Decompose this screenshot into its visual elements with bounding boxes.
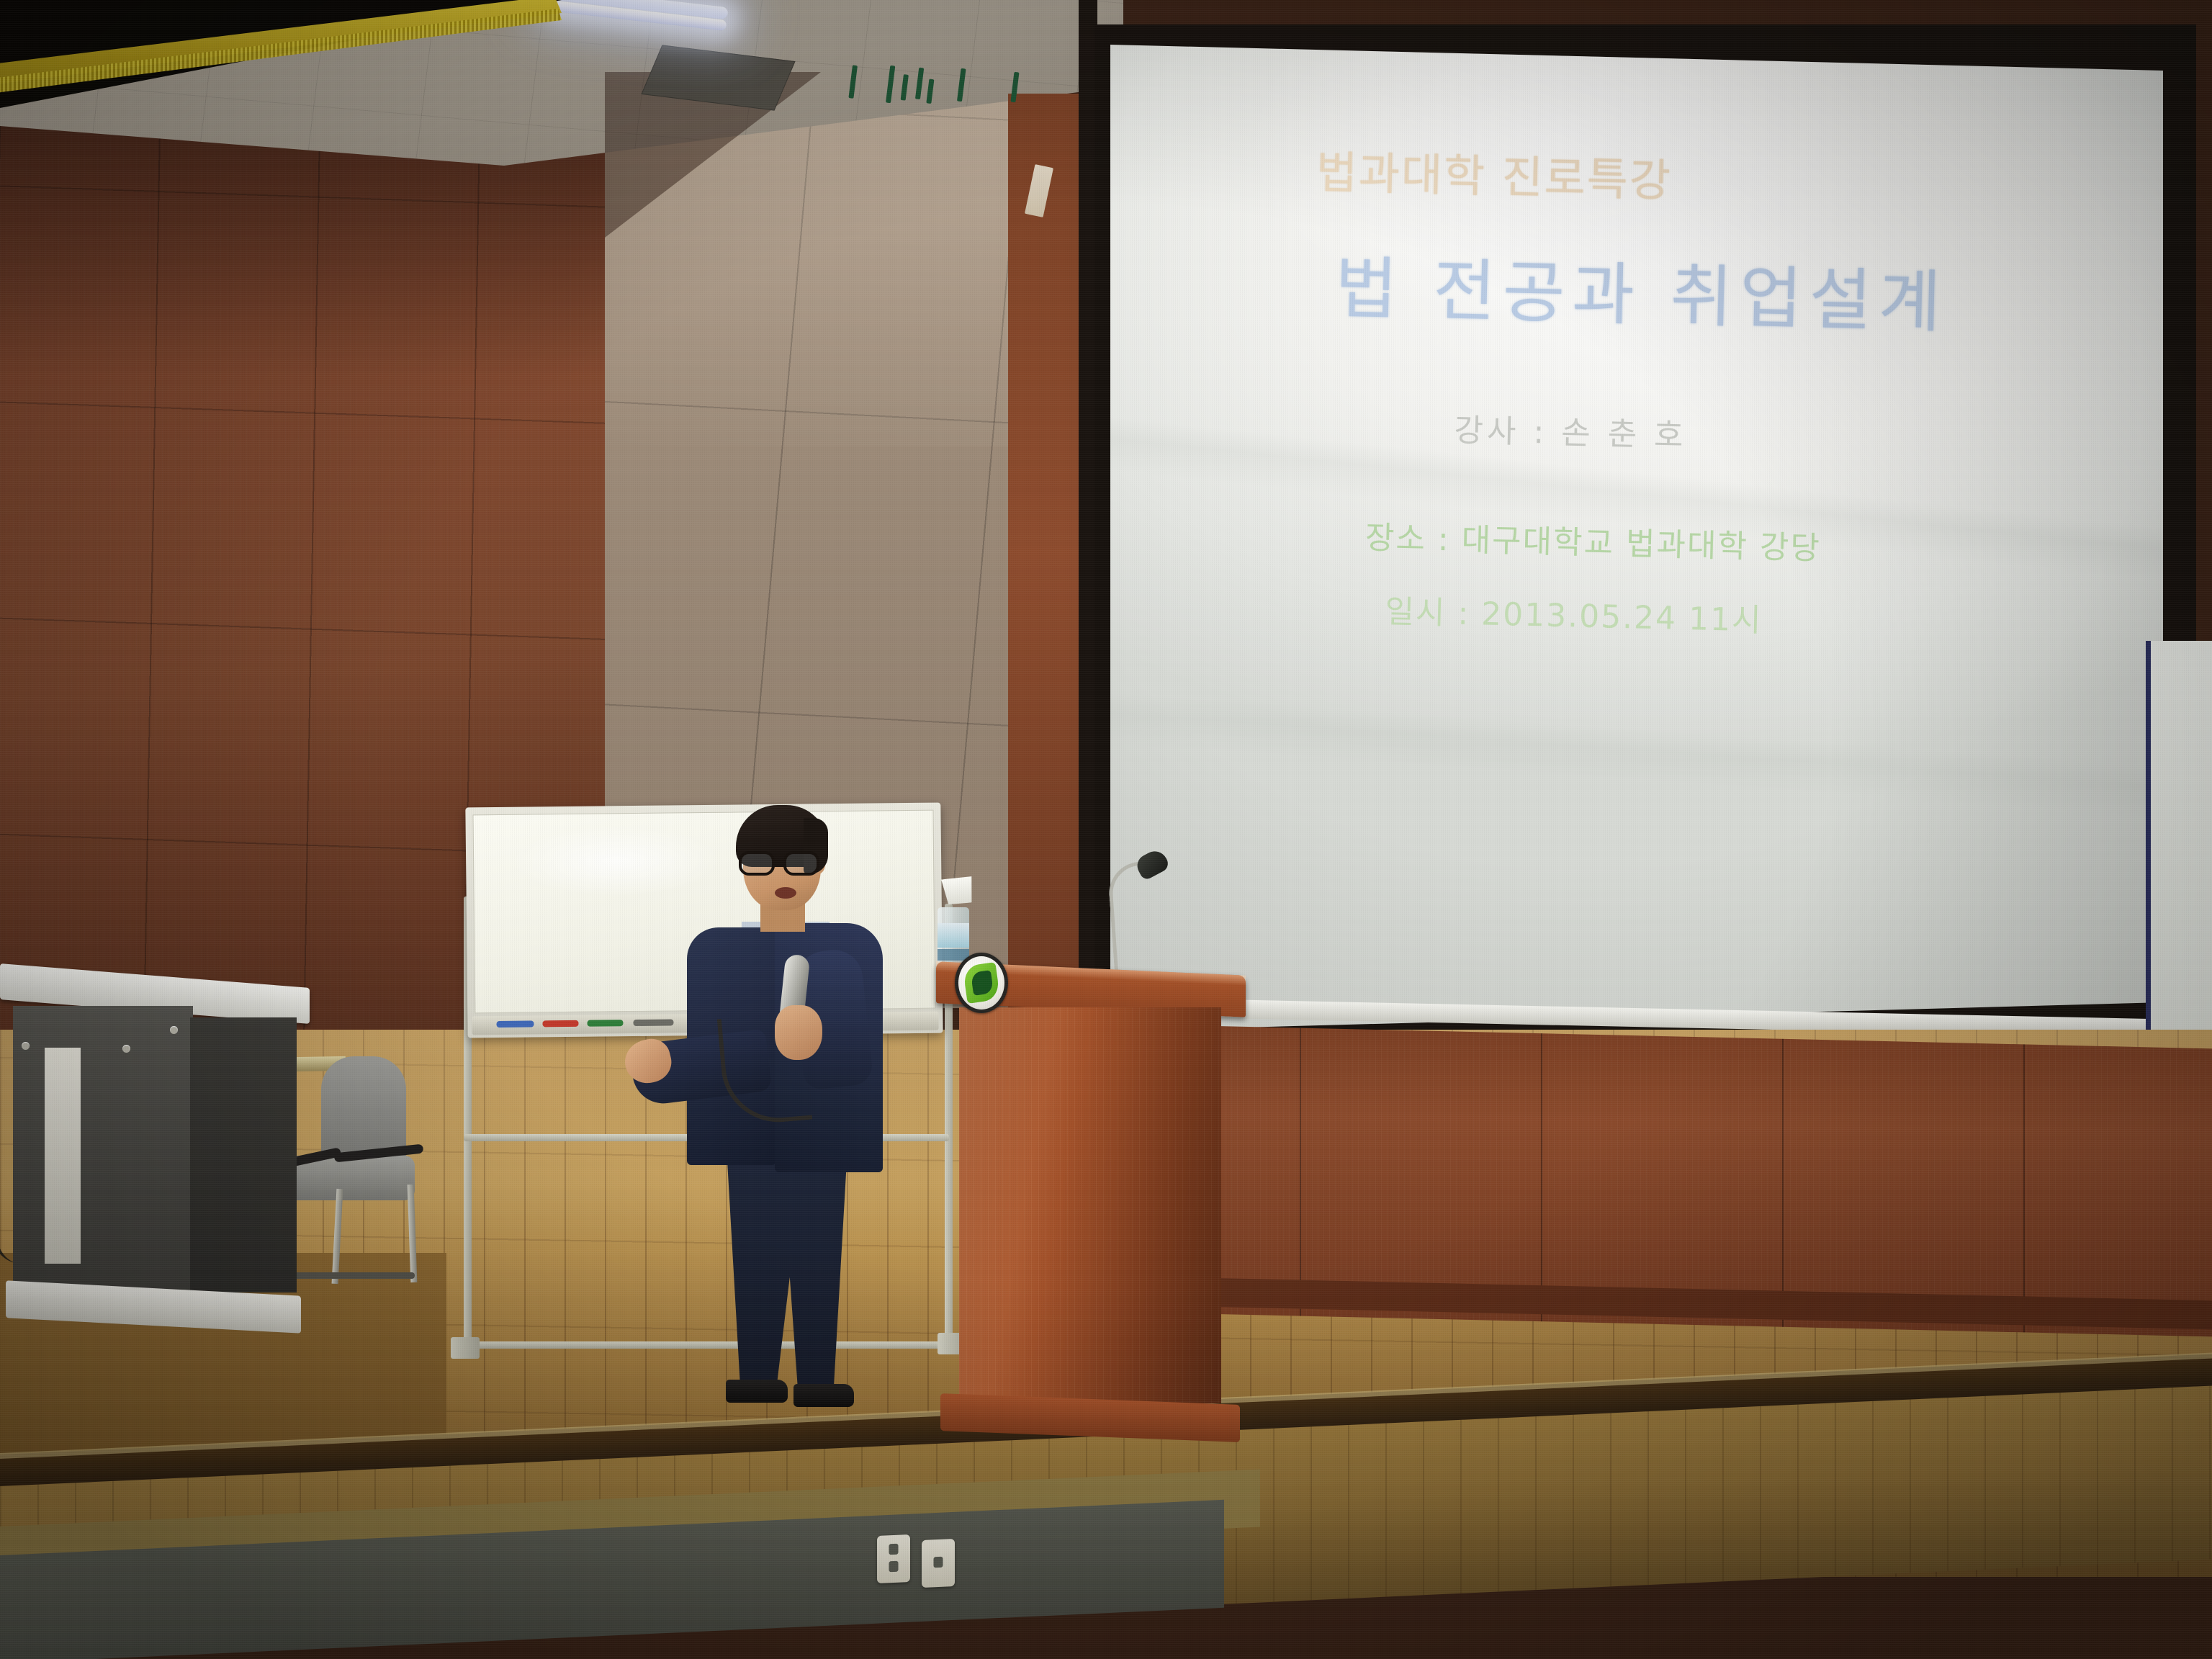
- wood-pilaster: [1008, 94, 1087, 1015]
- wall-outlet-single: [922, 1539, 955, 1588]
- projection-surface: 법과대학 진로특강 법 전공과 취업설계 강사 : 손 춘 호 장소 : 대구대…: [1110, 45, 2163, 1031]
- university-crest-icon: [955, 953, 1008, 1013]
- person-legs: [719, 1154, 855, 1391]
- speaker-person: [634, 799, 936, 1433]
- lectern-stripe: [45, 1048, 81, 1264]
- gooseneck-microphone-icon: [1105, 842, 1184, 979]
- projection-screen: 법과대학 진로특강 법 전공과 취업설계 강사 : 손 춘 호 장소 : 대구대…: [1094, 24, 2196, 1047]
- lecture-hall-photograph: 법과대학 진로특강 법 전공과 취업설계 강사 : 손 춘 호 장소 : 대구대…: [0, 0, 2212, 1659]
- eyeglasses-icon: [739, 851, 828, 876]
- metal-lectern: [0, 976, 310, 1336]
- wooden-lectern: [936, 968, 1246, 1473]
- secondary-whiteboard-panel: [2146, 641, 2212, 1044]
- wall-outlet-duplex: [877, 1534, 910, 1583]
